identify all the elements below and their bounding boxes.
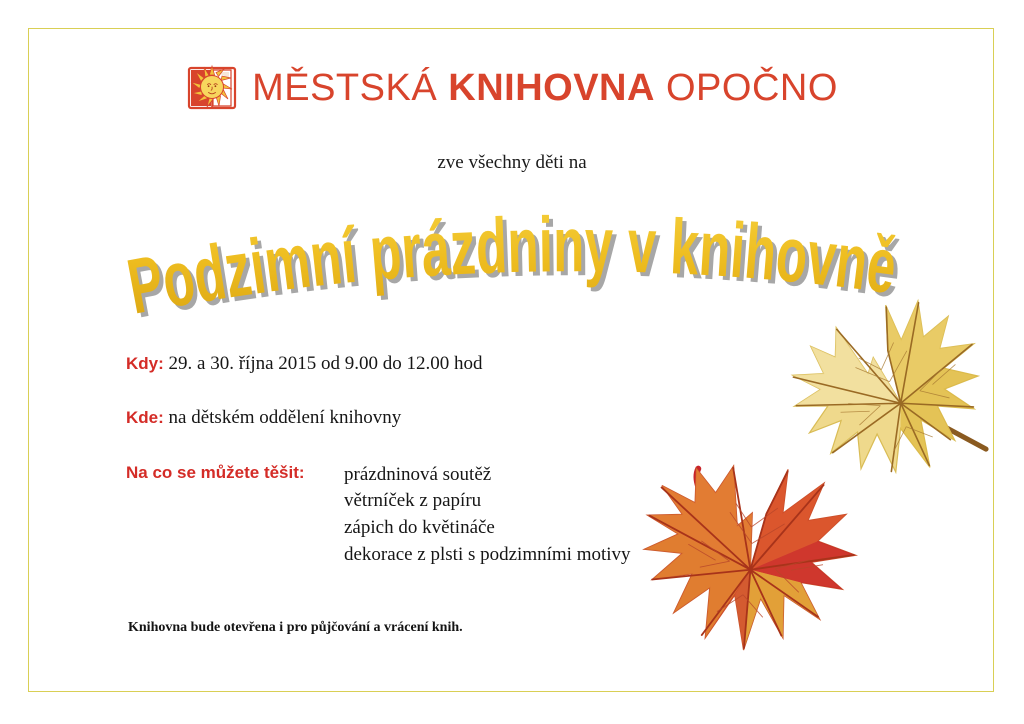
library-name-part-knihovna: KNIHOVNA [448, 67, 655, 109]
where-label: Kde: [126, 408, 164, 427]
library-logo-header: MĚSTSKÁ KNIHOVNA OPOČNO [0, 62, 1024, 114]
library-name: MĚSTSKÁ KNIHOVNA OPOČNO [252, 69, 838, 107]
when-label: Kdy: [126, 354, 164, 373]
list-item: prázdninová soutěž [344, 462, 746, 489]
when-value: 29. a 30. října 2015 od 9.00 do 12.00 ho… [169, 353, 483, 374]
event-title-face: Podzimní prázdniny v knihovně [121, 200, 902, 330]
library-name-part-opocno: OPOČNO [666, 67, 838, 109]
event-details-block: Kdy: 29. a 30. října 2015 od 9.00 do 12.… [126, 352, 746, 569]
library-name-part-mestska: MĚSTSKÁ [252, 67, 437, 109]
activities-list: prázdninová soutěž větrníček z papíru zá… [344, 462, 746, 570]
event-title-svg: Podzimní prázdniny v knihovně Podzimní p… [120, 196, 910, 331]
detail-row-activities: Na co se můžete těšit: prázdninová soutě… [126, 462, 746, 570]
invitation-line: zve všechny děti na [0, 152, 1024, 174]
event-title-wordart: Podzimní prázdniny v knihovně Podzimní p… [120, 196, 910, 331]
detail-row-where: Kde: na dětském oddělení knihovny [126, 406, 746, 430]
list-item: zápich do květináče [344, 515, 746, 542]
opening-hours-note: Knihovna bude otevřena i pro půjčování a… [128, 620, 463, 636]
activities-label: Na co se můžete těšit: [126, 462, 344, 483]
poster-canvas: MĚSTSKÁ KNIHOVNA OPOČNO zve všechny děti… [0, 0, 1024, 724]
where-value: na dětském oddělení knihovny [169, 407, 402, 428]
detail-row-when: Kdy: 29. a 30. října 2015 od 9.00 do 12.… [126, 352, 746, 376]
open-book-with-sun-icon [186, 62, 238, 114]
list-item: dekorace z plsti s podzimními motivy [344, 542, 746, 569]
list-item: větrníček z papíru [344, 488, 746, 515]
svg-text:Podzimní prázdniny v knihovně: Podzimní prázdniny v knihovně [121, 200, 902, 330]
